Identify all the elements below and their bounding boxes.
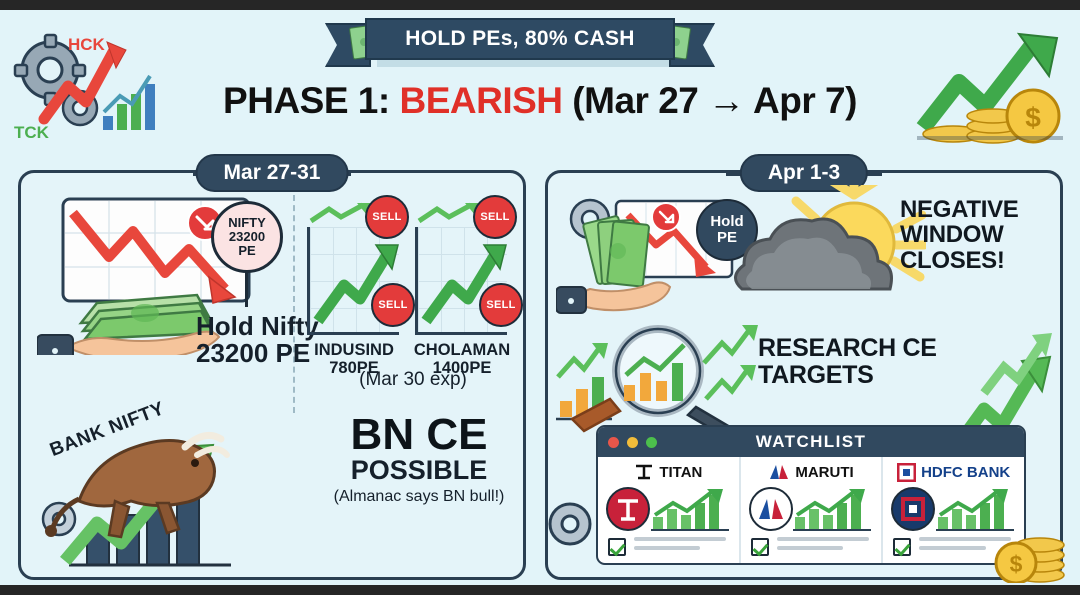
headline-ribbon: HOLD PEs, 80% CASH	[325, 18, 715, 60]
research-magnifier-art	[554, 323, 764, 438]
watchlist-titlebar: WATCHLIST	[598, 427, 1024, 457]
bn-ce-headline: BN CE	[321, 413, 517, 456]
cash-fan-icon	[583, 216, 649, 287]
nifty-strike-bubble: NIFTY 23200 PE	[211, 201, 283, 273]
watchlist-item-titan[interactable]: TITAN	[598, 457, 741, 564]
mini-chart-cholaman: SELL SELL CHOLAMAN 1400PE	[415, 199, 513, 335]
title-highlight: BEARISH	[399, 80, 562, 121]
stock-name: HDFC BANK	[921, 464, 1010, 481]
stock-name: TITAN	[659, 464, 702, 481]
dollar-icon: $	[1010, 551, 1023, 577]
stock-trend-chart	[793, 489, 871, 531]
window-controls[interactable]	[608, 437, 657, 448]
gear-icon-corner	[542, 496, 598, 557]
close-dot-icon[interactable]	[608, 437, 619, 448]
hand-icon	[556, 282, 670, 313]
ribbon-label: HOLD PEs, 80% CASH	[405, 27, 634, 51]
small-up-arrow-icon	[704, 325, 758, 399]
panel-mar-27-31: Mar 27-31	[18, 170, 526, 580]
page-title: PHASE 1: BEARISH (Mar 27 → Apr 7)	[0, 80, 1080, 122]
sell-badge-top: SELL	[365, 195, 409, 239]
stock-header: TITAN	[606, 463, 731, 481]
watchlist-title: WATCHLIST	[598, 432, 1024, 452]
maximize-dot-icon[interactable]	[646, 437, 657, 448]
cash-stack-icon	[81, 295, 213, 339]
title-prefix: PHASE 1:	[223, 80, 399, 121]
watchlist-item-maruti[interactable]: MARUTI	[741, 457, 884, 564]
nifty-bubble-line1: NIFTY	[228, 216, 266, 230]
infographic-canvas: HCK TCK $ HOLD PEs, 80% CASH	[0, 10, 1080, 585]
logo-bottom-label: TCK	[14, 123, 50, 142]
stock-header: MARUTI	[749, 463, 874, 481]
sell-badge-top: SELL	[473, 195, 517, 239]
stock-name: MARUTI	[795, 464, 853, 481]
ribbon-shadow	[377, 60, 677, 67]
nifty-bubble-line2: 23200	[229, 230, 265, 244]
sun-clouds-art	[726, 185, 926, 330]
maruti-logo-badge	[749, 487, 793, 531]
bn-ce-note: (Almanac says BN bull!)	[321, 488, 517, 506]
title-suffix: (Mar 27 → Apr 7)	[563, 80, 857, 121]
hdfc-logo-badge	[891, 487, 935, 531]
stock-name: INDUSIND	[303, 341, 405, 359]
left-panel-divider	[293, 195, 295, 413]
titan-logo-badge	[606, 487, 650, 531]
panel-apr-1-3: Apr 1-3	[545, 170, 1063, 580]
watchlist-checkbox[interactable]	[893, 538, 911, 556]
watchlist-checkbox[interactable]	[608, 538, 626, 556]
nifty-bubble-stem	[245, 271, 248, 307]
coins-stack-art: $	[990, 519, 1072, 583]
mini-chart-indusind: SELL SELL INDUSIND 780PE	[307, 199, 405, 335]
watchlist-checkbox[interactable]	[751, 538, 769, 556]
nifty-bubble-line3: PE	[238, 244, 255, 258]
ribbon-body: HOLD PEs, 80% CASH	[365, 18, 675, 60]
bottom-letterbox-bar	[0, 585, 1080, 595]
maruti-logo-icon	[768, 463, 790, 481]
down-arrow-badge-icon	[652, 203, 680, 231]
research-ce-targets-text: RESEARCH CE TARGETS	[758, 335, 958, 389]
stock-trend-chart	[651, 489, 729, 531]
placeholder-lines	[634, 537, 726, 555]
sell-badge-bottom: SELL	[371, 283, 415, 327]
stock-name: CHOLAMAN	[411, 341, 513, 359]
small-up-arrow-icon	[558, 343, 608, 377]
negative-window-text: NEGATIVE WINDOW CLOSES!	[900, 197, 1050, 273]
titan-logo-icon	[634, 463, 654, 481]
logo-top-label: HCK	[68, 35, 106, 54]
watchlist-body: TITAN	[598, 457, 1024, 564]
bn-ce-subhead: POSSIBLE	[321, 456, 517, 484]
placeholder-lines	[777, 537, 869, 555]
sell-badge-bottom: SELL	[479, 283, 523, 327]
top-letterbox-bar	[0, 0, 1080, 10]
bn-ce-callout: BN CE POSSIBLE (Almanac says BN bull!)	[321, 413, 517, 506]
hdfc-logo-icon	[897, 463, 916, 482]
watchlist-window[interactable]: WATCHLIST TITAN	[596, 425, 1026, 565]
date-badge-left: Mar 27-31	[196, 154, 349, 192]
minimize-dot-icon[interactable]	[627, 437, 638, 448]
expiry-note: (Mar 30 exp)	[307, 369, 519, 391]
stock-header: HDFC BANK	[891, 463, 1016, 482]
